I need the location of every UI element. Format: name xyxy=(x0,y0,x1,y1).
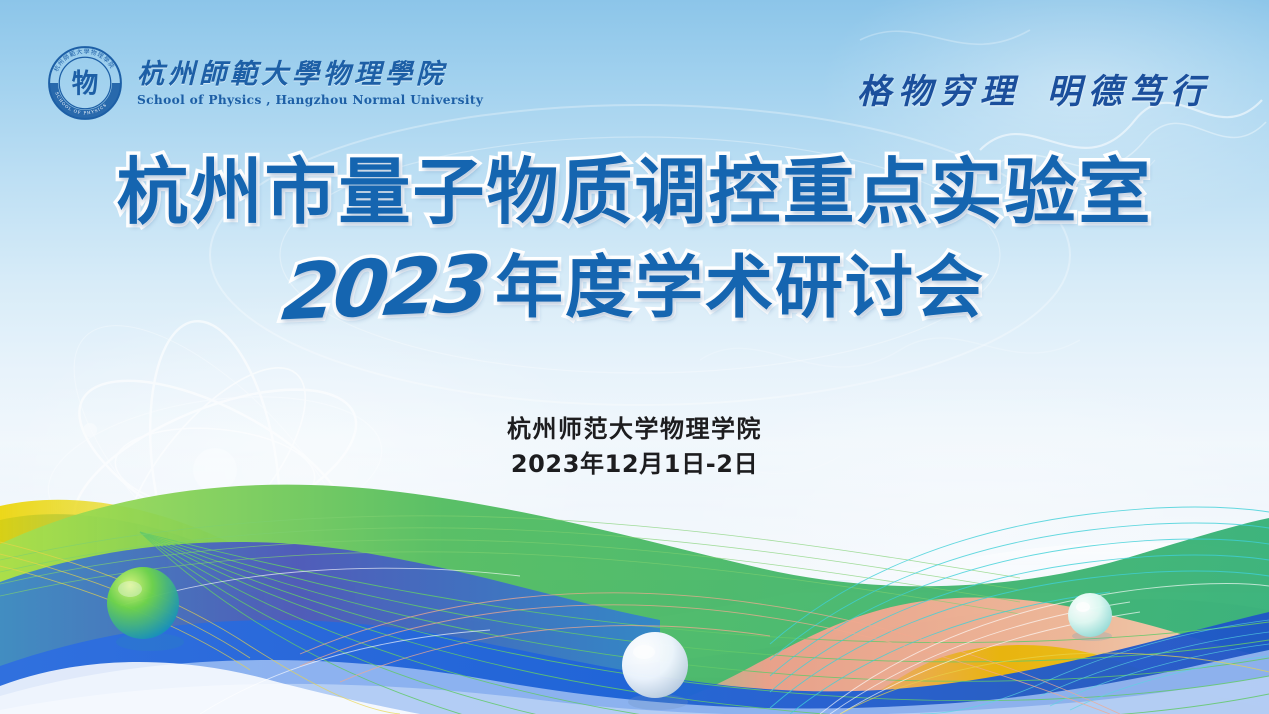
title-line-2-row: 2023 年度学术研讨会 xyxy=(0,244,1269,334)
motto-part-1: 格物穷理 xyxy=(857,72,1021,112)
logo-name-cn: 杭州師範大學物理學院 xyxy=(137,59,483,91)
title-line-2: 年度学术研讨会 xyxy=(495,255,985,323)
logo-name-en: School of Physics , Hangzhou Normal Univ… xyxy=(137,93,483,107)
university-logo: 杭州師範大學物理學院 SCHOOL OF PHYSICS 物 杭州師範大學物理學… xyxy=(46,44,483,122)
svg-text:物: 物 xyxy=(72,68,99,99)
title-year: 2023 xyxy=(278,240,491,339)
bottom-wave-artwork xyxy=(0,414,1269,714)
motto-part-2: 明德笃行 xyxy=(1047,72,1211,112)
title-line-1: 杭州市量子物质调控重点实验室 xyxy=(0,156,1269,228)
main-title: 杭州市量子物质调控重点实验室 2023 年度学术研讨会 xyxy=(0,156,1269,334)
conference-banner: 杭州師範大學物理學院 SCHOOL OF PHYSICS 物 杭州師範大學物理學… xyxy=(0,0,1269,714)
hangzhou-normal-university-emblem-icon: 杭州師範大學物理學院 SCHOOL OF PHYSICS 物 xyxy=(46,44,124,122)
sphere-cyan-right xyxy=(1068,593,1112,641)
university-motto: 格物穷理明德笃行 xyxy=(857,64,1211,113)
sphere-white-center xyxy=(622,632,688,710)
